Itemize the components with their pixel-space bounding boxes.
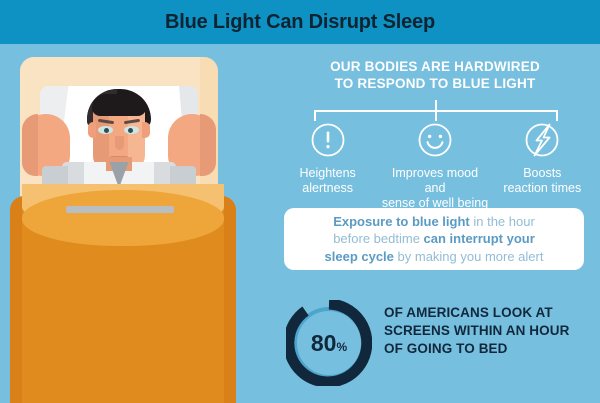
blanket-fold: [22, 190, 224, 246]
bracket-stem: [435, 100, 437, 110]
benefits-row: Heightens alertness Improves mood and se…: [270, 122, 600, 211]
nose: [115, 136, 124, 150]
bed-sheet-edge: [66, 206, 174, 213]
benefit-item-alertness: Heightens alertness: [274, 122, 381, 211]
right-arm-shadow: [200, 114, 216, 176]
kicker-line-1: OUR BODIES ARE HARDWIRED: [270, 58, 600, 75]
bracket-drop-right: [556, 110, 558, 121]
benefit-alertness-line-1: Heightens: [300, 166, 356, 180]
callout-text: Exposure to blue light in the hour befor…: [325, 213, 544, 266]
donut-chart: 80%: [286, 300, 372, 386]
benefit-reaction-line-1: Boosts: [523, 166, 561, 180]
bed-illustration: [0, 44, 270, 403]
statistic-description: OF AMERICANS LOOK AT SCREENS WITHIN AN H…: [384, 304, 596, 358]
callout-text-3: by making you more alert: [394, 249, 544, 264]
donut-value-label: 80%: [286, 300, 372, 386]
benefit-item-mood: Improves mood and sense of well being: [381, 122, 488, 211]
benefit-reaction-line-2: reaction times: [503, 181, 581, 195]
benefit-mood-line-1: Improves mood and: [392, 166, 478, 195]
callout-text-2: before bedtime: [333, 231, 423, 246]
exclamation-circle-icon: [310, 122, 346, 158]
callout-bold-2: can interrupt your: [424, 231, 535, 246]
hair-fringe: [92, 94, 146, 116]
left-pupil: [104, 128, 109, 133]
left-arm-shadow: [22, 114, 38, 176]
content-column: OUR BODIES ARE HARDWIRED TO RESPOND TO B…: [270, 44, 600, 403]
page-title: Blue Light Can Disrupt Sleep: [165, 11, 435, 34]
statistic-block: 80% OF AMERICANS LOOK AT SCREENS WITHIN …: [280, 296, 600, 392]
lightning-bolt-icon: [524, 122, 560, 158]
callout-text-1: in the hour: [470, 214, 535, 229]
right-ear: [142, 122, 150, 138]
page-header: Blue Light Can Disrupt Sleep: [0, 0, 600, 44]
statistic-line-2: SCREENS WITHIN AN HOUR: [384, 322, 596, 340]
smiley-face-icon: [417, 122, 453, 158]
statistic-line-1: OF AMERICANS LOOK AT: [384, 304, 596, 322]
callout-bold-3: sleep cycle: [325, 249, 394, 264]
benefit-label-alertness: Heightens alertness: [300, 166, 356, 196]
benefit-alertness-line-2: alertness: [302, 181, 353, 195]
right-pupil: [128, 128, 133, 133]
kicker-line-2: TO RESPOND TO BLUE LIGHT: [270, 75, 600, 92]
donut-unit: %: [336, 340, 347, 354]
callout-box: Exposure to blue light in the hour befor…: [284, 208, 584, 270]
section-kicker: OUR BODIES ARE HARDWIRED TO RESPOND TO B…: [270, 58, 600, 92]
donut-value: 80: [311, 330, 337, 357]
left-ear: [88, 122, 96, 138]
bracket-drop-center: [435, 110, 437, 121]
benefit-label-mood: Improves mood and sense of well being: [381, 166, 488, 211]
connector-bracket: [292, 100, 580, 122]
benefit-item-reaction: Boosts reaction times: [489, 122, 596, 211]
benefit-label-reaction: Boosts reaction times: [503, 166, 581, 196]
statistic-line-3: OF GOING TO BED: [384, 340, 596, 358]
callout-bold-1: Exposure to blue light: [333, 214, 470, 229]
bracket-drop-left: [314, 110, 316, 121]
